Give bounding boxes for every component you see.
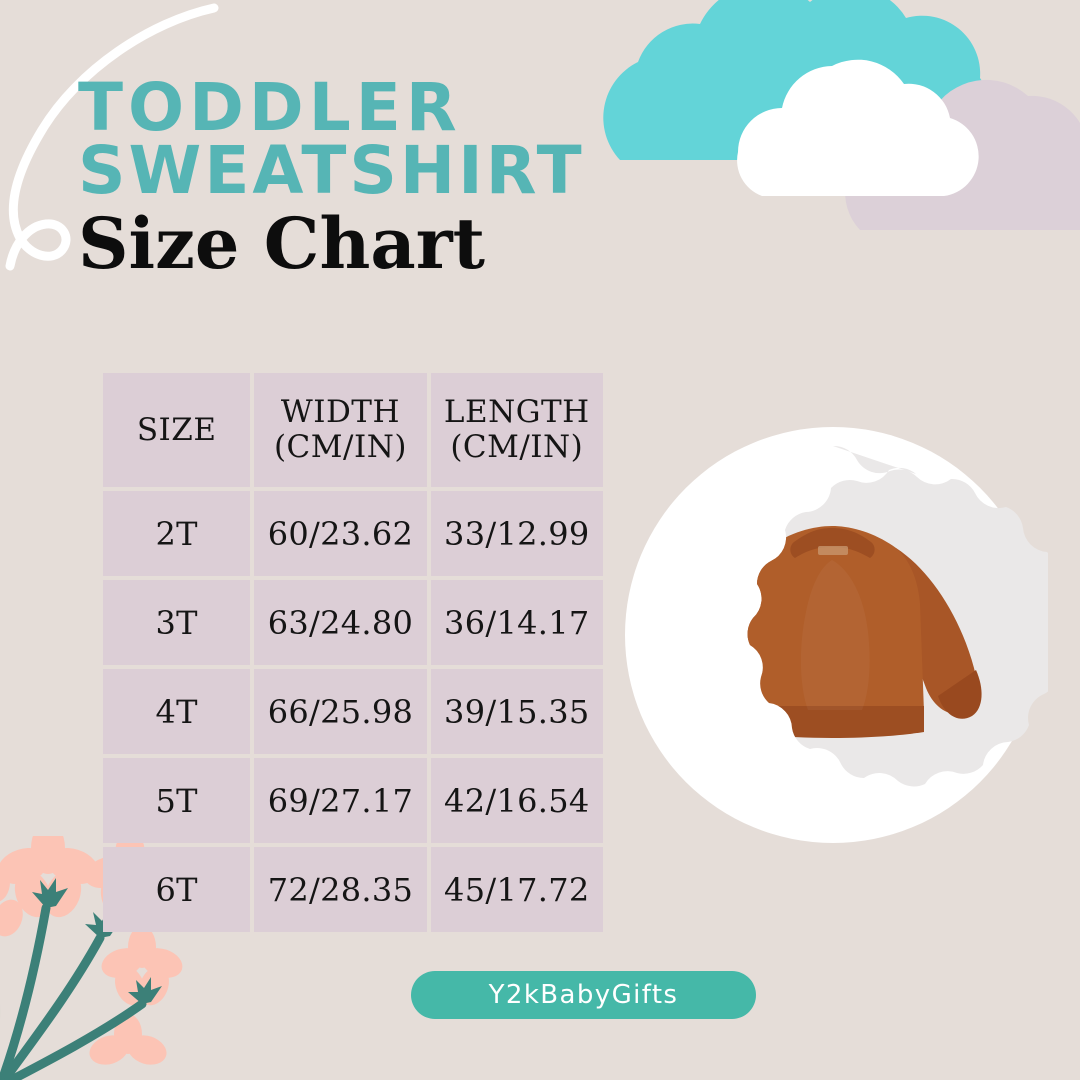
table-row: 6T72/28.3545/17.72 bbox=[103, 847, 603, 932]
page-subtitle: Size Chart bbox=[78, 207, 778, 281]
table-row: 4T66/25.9839/15.35 bbox=[103, 669, 603, 754]
cell-length: 42/16.54 bbox=[431, 758, 603, 843]
title-line-1: TODDLER bbox=[78, 76, 778, 139]
column-header-length: LENGTH (CM/IN) bbox=[431, 373, 603, 487]
column-header-width: WIDTH (CM/IN) bbox=[254, 373, 426, 487]
title-line-2: SWEATSHIRT bbox=[78, 139, 778, 202]
column-header-length-line1: LENGTH bbox=[431, 395, 603, 430]
column-header-width-line1: WIDTH bbox=[254, 395, 426, 430]
cell-length: 45/17.72 bbox=[431, 847, 603, 932]
cell-size: 6T bbox=[103, 847, 250, 932]
cell-size: 2T bbox=[103, 491, 250, 576]
cell-size: 5T bbox=[103, 758, 250, 843]
cell-width: 69/27.17 bbox=[254, 758, 426, 843]
product-image-frame bbox=[618, 420, 1048, 850]
table-header-row: SIZE WIDTH (CM/IN) LENGTH (CM/IN) bbox=[103, 373, 603, 487]
shop-name-text: Y2kBabyGifts bbox=[489, 980, 679, 1010]
column-header-width-line2: (CM/IN) bbox=[254, 430, 426, 465]
cell-length: 36/14.17 bbox=[431, 580, 603, 665]
column-header-size: SIZE bbox=[103, 373, 250, 487]
cell-width: 60/23.62 bbox=[254, 491, 426, 576]
table-row: 5T69/27.1742/16.54 bbox=[103, 758, 603, 843]
sweatshirt-neck-label bbox=[818, 546, 848, 555]
cell-width: 66/25.98 bbox=[254, 669, 426, 754]
cell-size: 4T bbox=[103, 669, 250, 754]
table-row: 3T63/24.8036/14.17 bbox=[103, 580, 603, 665]
table-row: 2T60/23.6233/12.99 bbox=[103, 491, 603, 576]
cell-width: 63/24.80 bbox=[254, 580, 426, 665]
page-title: TODDLER SWEATSHIRT Size Chart bbox=[78, 76, 778, 280]
cell-size: 3T bbox=[103, 580, 250, 665]
size-chart-canvas: TODDLER SWEATSHIRT Size Chart SIZE WIDTH… bbox=[0, 0, 1080, 1080]
column-header-length-line2: (CM/IN) bbox=[431, 430, 603, 465]
cell-length: 39/15.35 bbox=[431, 669, 603, 754]
cell-width: 72/28.35 bbox=[254, 847, 426, 932]
cell-length: 33/12.99 bbox=[431, 491, 603, 576]
shop-name-badge[interactable]: Y2kBabyGifts bbox=[411, 971, 756, 1019]
size-chart-table: SIZE WIDTH (CM/IN) LENGTH (CM/IN) 2T60/2… bbox=[99, 369, 607, 936]
